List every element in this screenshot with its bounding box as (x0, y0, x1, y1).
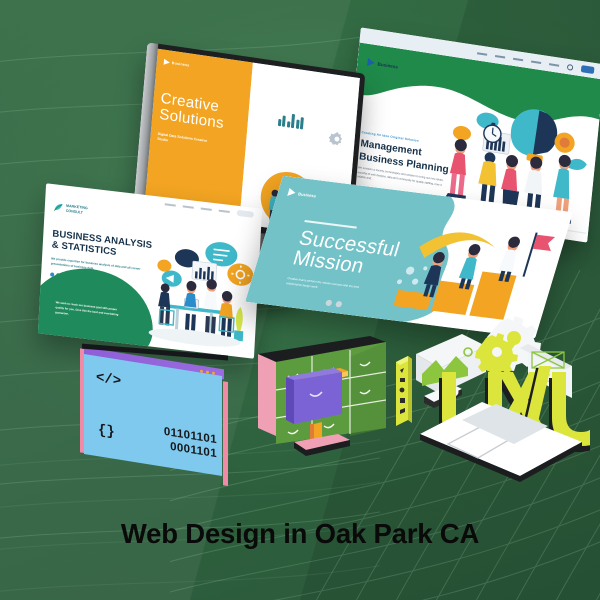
nav-dash (183, 206, 194, 209)
poster-canvas: Business Creating An Idea Original Solut… (0, 0, 600, 600)
nav-cta-button[interactable] (581, 65, 595, 74)
slide-business-analysis[interactable]: MARKETING CONSULT BUSINESS ANALYSIS & ST… (38, 183, 262, 358)
monitor-logo-text: Business (172, 61, 190, 68)
code-brace-icon: {} (98, 422, 115, 441)
window-right-edge (223, 381, 228, 486)
monitor-slide-title: Creative Solutions (159, 91, 243, 134)
slide-body: MARKETING CONSULT BUSINESS ANALYSIS & ST… (38, 197, 261, 358)
file-cabinet[interactable] (254, 332, 386, 458)
nav-cta-button[interactable] (237, 210, 254, 218)
file-cabinet-illustration (254, 332, 386, 458)
slide-logo-text: Business (298, 191, 317, 198)
leaf-logo-icon (54, 202, 63, 212)
nav-dash (549, 63, 559, 67)
slide-logo-text: Business (377, 61, 398, 69)
code-window-screen[interactable]: </> {} 01101101 0001101 (84, 354, 222, 476)
monitor-slide-logo: Business (164, 59, 245, 77)
monitor-slide-subtitle: Digital Data Solutions Creative Studio (157, 131, 216, 150)
slide-footer-note: We work to reach our business goal with … (55, 301, 122, 323)
code-window-body: </> {} 01101101 0001101 (80, 344, 226, 479)
meeting-illustration (138, 223, 256, 352)
nav-dash (531, 60, 541, 64)
arrow-icon (164, 59, 171, 66)
gear-icon (328, 129, 346, 148)
slide-logo-text: MARKETING CONSULT (66, 204, 88, 216)
uxui-laptop-illustration (386, 316, 590, 484)
nav-dash (495, 54, 505, 58)
nav-dash (201, 208, 212, 211)
nav-dash (165, 204, 176, 207)
code-browser-window[interactable]: </> {} 01101101 0001101 (80, 344, 226, 479)
bar-chart-decoration (278, 112, 305, 130)
nav-dash (219, 210, 230, 213)
uxui-laptop[interactable] (386, 316, 590, 484)
binary-text: 01101101 0001101 (164, 425, 217, 462)
code-tag-icon: </> (96, 370, 121, 390)
nav-dash (477, 52, 487, 56)
nav-dash (513, 57, 523, 61)
arrow-icon (287, 188, 296, 197)
search-icon[interactable] (567, 63, 574, 70)
page-title: Web Design in Oak Park CA (0, 518, 600, 550)
pagination-dot[interactable] (325, 300, 333, 307)
